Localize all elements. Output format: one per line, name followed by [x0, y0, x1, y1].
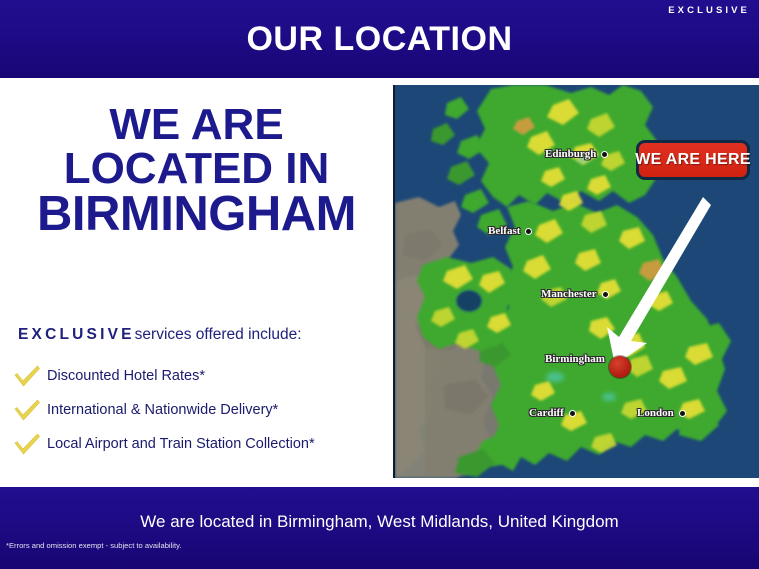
map-panel[interactable]: Edinburgh Belfast Manchester Birmingham …: [393, 85, 759, 478]
services-heading: EXCLUSIVEservices offered include:: [18, 325, 302, 344]
footer-disclaimer: *Errors and omission exempt - subject to…: [6, 541, 181, 551]
headline-line-3: BIRMINGHAM: [0, 192, 393, 236]
list-item: International & Nationwide Delivery*: [12, 393, 393, 427]
headline: WE ARE LOCATED IN BIRMINGHAM: [0, 103, 393, 236]
left-content-panel: WE ARE LOCATED IN BIRMINGHAM EXCLUSIVEse…: [0, 78, 393, 487]
list-item-label: Local Airport and Train Station Collecti…: [47, 435, 315, 453]
list-item-label: International & Nationwide Delivery*: [47, 401, 278, 419]
check-icon: [12, 431, 42, 457]
headline-line-1: WE ARE: [0, 103, 393, 147]
headline-line-2: LOCATED IN: [0, 147, 393, 191]
brand-tag: EXCLUSIVE: [668, 5, 750, 16]
services-list: Discounted Hotel Rates* International & …: [12, 359, 393, 461]
footer-bar: We are located in Birmingham, West Midla…: [0, 487, 759, 569]
slide-root: EXCLUSIVE OUR LOCATION WE ARE LOCATED IN…: [0, 0, 759, 569]
header-bar: EXCLUSIVE OUR LOCATION: [0, 0, 759, 78]
we-are-here-callout[interactable]: WE ARE HERE: [636, 140, 750, 180]
list-item: Discounted Hotel Rates*: [12, 359, 393, 393]
services-heading-rest: services offered include:: [135, 326, 302, 343]
list-item: Local Airport and Train Station Collecti…: [12, 427, 393, 461]
footer-caption: We are located in Birmingham, West Midla…: [0, 511, 759, 532]
check-icon: [12, 363, 42, 389]
birmingham-location-marker[interactable]: [609, 356, 631, 378]
we-are-here-label: WE ARE HERE: [635, 151, 751, 169]
services-heading-keyword: EXCLUSIVE: [18, 326, 135, 343]
page-title: OUR LOCATION: [0, 21, 759, 57]
check-icon: [12, 397, 42, 423]
list-item-label: Discounted Hotel Rates*: [47, 367, 205, 385]
